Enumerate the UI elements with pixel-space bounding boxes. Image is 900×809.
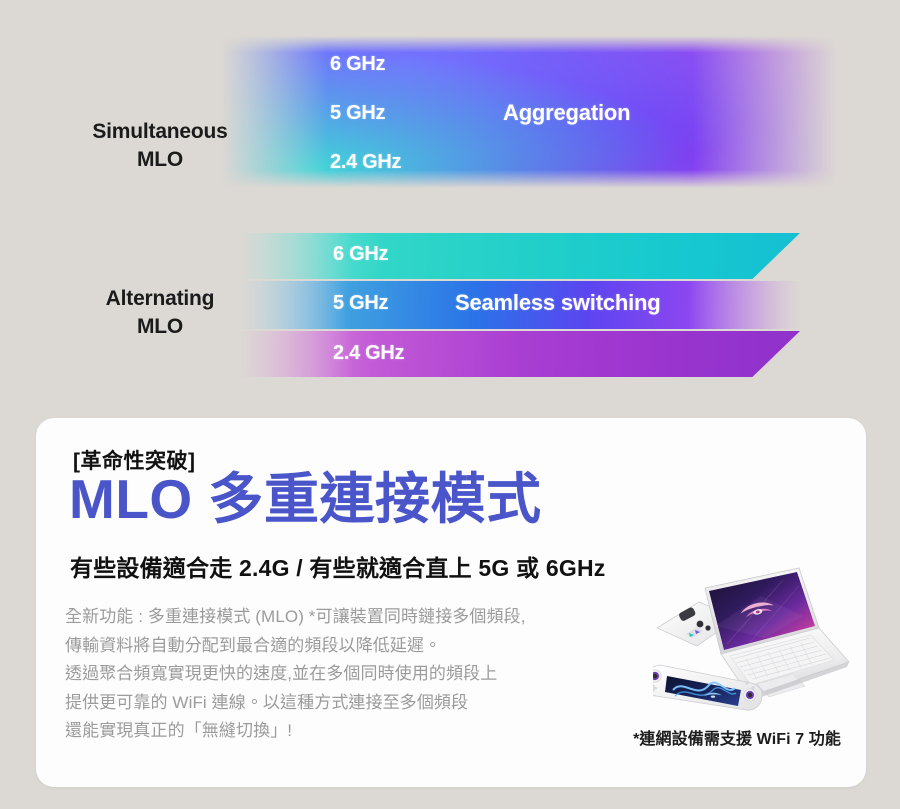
alternating-mode-seamless-switching: Seamless switching: [455, 290, 661, 316]
alternating-mlo-label-line2: MLO: [137, 315, 183, 338]
card-headline: MLO 多重連接模式: [69, 471, 541, 529]
diagram-simultaneous-mlo: Simultaneous MLO 6 GHz 5 GHz 2.4 GHz Agg…: [0, 30, 900, 195]
body-line: 透過聚合頻寬實現更快的速度,並在多個同時使用的頻段上: [65, 660, 665, 689]
page-root: Simultaneous MLO 6 GHz 5 GHz 2.4 GHz Agg…: [0, 0, 900, 809]
rog-logo: [739, 600, 775, 619]
simultaneous-mlo-label-line1: Simultaneous: [92, 120, 227, 143]
diagram-alternating-mlo: Alternating MLO 6 GHz 5 GHz 2.4 GHz Seam…: [0, 225, 900, 390]
body-line: 傳輸資料將自動分配到最合適的頻段以降低延遲。: [65, 632, 665, 661]
body-line: 還能實現真正的「無縫切換」!: [65, 717, 665, 746]
simultaneous-mlo-label-line2: MLO: [137, 148, 183, 171]
alternating-mlo-label-line1: Alternating: [106, 287, 215, 310]
body-line: 全新功能 : 多重連接模式 (MLO) *可讓裝置同時鏈接多個頻段,: [65, 603, 665, 632]
alternating-band-24ghz: 2.4 GHz: [333, 342, 404, 365]
simultaneous-band-24ghz: 2.4 GHz: [330, 151, 401, 174]
simultaneous-mode-aggregation: Aggregation: [503, 100, 630, 126]
alternating-strip-6ghz: [240, 233, 800, 279]
device-illustration: [653, 566, 858, 746]
simultaneous-band-5ghz: 5 GHz: [330, 102, 385, 125]
rog-handheld: [653, 665, 762, 710]
card-footnote: *連網設備需支援 WiFi 7 功能: [633, 725, 841, 749]
content-card: [革命性突破] MLO 多重連接模式 有些設備適合走 2.4G / 有些就適合直…: [36, 418, 866, 787]
alternating-band-6ghz: 6 GHz: [333, 243, 388, 266]
alternating-band-5ghz: 5 GHz: [333, 292, 388, 315]
simultaneous-band-6ghz: 6 GHz: [330, 53, 385, 76]
rog-laptop: [705, 568, 849, 701]
rog-phone: [657, 602, 737, 646]
simultaneous-mlo-label: Simultaneous MLO: [70, 118, 250, 173]
card-body-copy: 全新功能 : 多重連接模式 (MLO) *可讓裝置同時鏈接多個頻段, 傳輸資料將…: [65, 603, 665, 746]
card-subhead: 有些設備適合走 2.4G / 有些就適合直上 5G 或 6GHz: [70, 549, 605, 583]
alternating-strip-24ghz: [240, 331, 800, 377]
alternating-mlo-label: Alternating MLO: [70, 285, 250, 340]
body-line: 提供更可靠的 WiFi 連線。以這種方式連接至多個頻段: [65, 689, 665, 718]
